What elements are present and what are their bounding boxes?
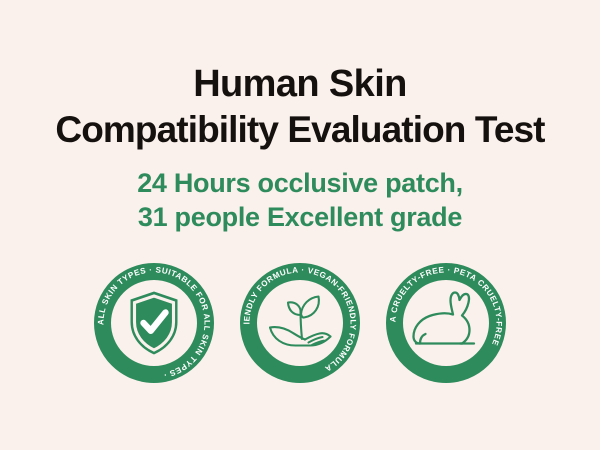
page-subtitle: 24 Hours occlusive patch, 31 people Exce… — [0, 166, 600, 234]
title-line-1: Human Skin — [0, 62, 600, 107]
certification-badge-row: SUITABLE FOR ALL SKIN TYPES · SUITABLE F… — [0, 262, 600, 384]
page-title: Human Skin Compatibility Evaluation Test — [0, 62, 600, 152]
subtitle-line-1: 24 Hours occlusive patch, — [0, 166, 600, 200]
subtitle-line-2: 31 people Excellent grade — [0, 200, 600, 234]
hand-seedling-icon — [270, 297, 331, 346]
shield-check-icon — [131, 292, 178, 355]
poster-canvas: Human Skin Compatibility Evaluation Test… — [0, 0, 600, 450]
badge-suitable-all-skin-types: SUITABLE FOR ALL SKIN TYPES · SUITABLE F… — [94, 263, 214, 383]
badge-peta-cruelty-free: · PETA CRUELTY-FREE · PETA CRUELTY-FREE — [386, 263, 506, 383]
rabbit-icon — [414, 293, 475, 344]
title-line-2: Compatibility Evaluation Test — [0, 107, 600, 152]
badge-vegan-friendly-formula: · VEGAN-FRIENDLY FORMULA · VEGAN-FRIENDL… — [240, 263, 360, 383]
